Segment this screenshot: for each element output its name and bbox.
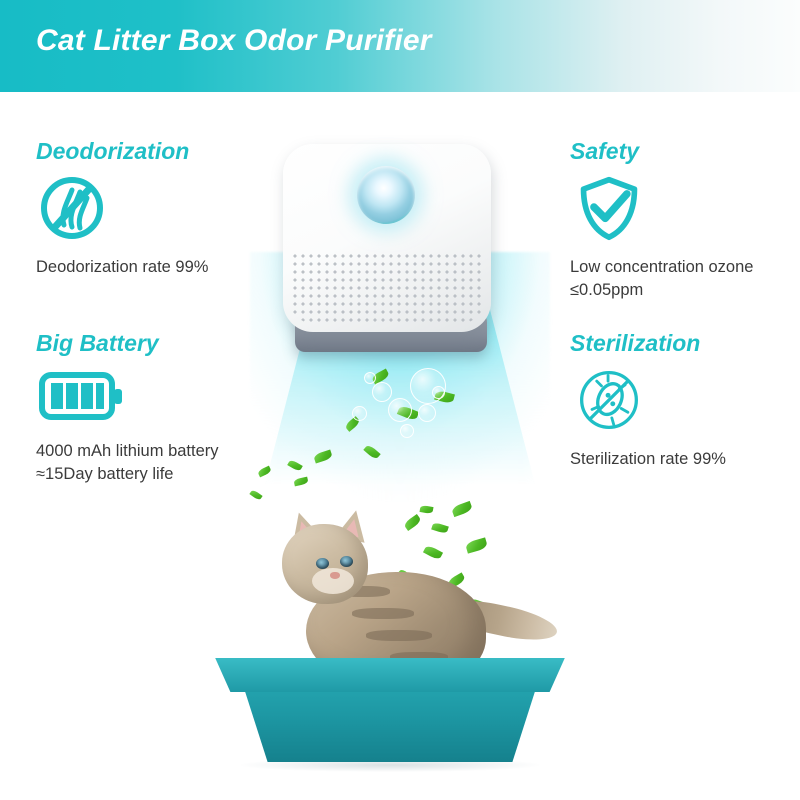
bubble-particle (388, 398, 412, 422)
battery-full-icon (38, 367, 126, 425)
litter-tray-rim (200, 658, 580, 692)
feature-title: Big Battery (36, 330, 286, 357)
feature-title: Safety (570, 138, 798, 165)
bubble-particle (372, 382, 392, 402)
shield-check-icon (572, 175, 646, 241)
device-body (283, 144, 491, 332)
feature-title: Sterilization (570, 330, 798, 357)
bubble-particle (400, 424, 414, 438)
cat-head (282, 524, 368, 604)
bubble-particle (352, 406, 367, 421)
feature-title: Deodorization (36, 138, 286, 165)
cat-eye-right (340, 556, 353, 567)
feature-safety: Safety Low concentration ozone ≤0.05ppm (570, 138, 798, 303)
cat-stripe (366, 630, 432, 641)
power-indicator-light[interactable] (357, 166, 415, 224)
odor-purifier-device (283, 144, 498, 356)
odor-block-icon (38, 175, 112, 241)
cat-nose (330, 572, 340, 579)
cat-stripe (352, 608, 414, 619)
germ-block-icon (572, 367, 646, 433)
product-infographic: Cat Litter Box Odor Purifier (0, 0, 800, 800)
feature-description: Low concentration ozone ≤0.05ppm (570, 256, 798, 303)
feature-description: Sterilization rate 99% (570, 448, 798, 471)
bubble-particle (418, 404, 436, 422)
feature-battery: Big Battery 4000 mAh lithium battery ≈15… (36, 330, 286, 487)
feature-sterilization: Sterilization Sterilization rate 99% (570, 330, 798, 471)
air-vent-grille (289, 250, 485, 324)
bubble-particle (432, 386, 445, 399)
feature-description: Deodorization rate 99% (36, 256, 286, 279)
bubble-particle (364, 372, 376, 384)
cat-eye-left (316, 558, 329, 569)
page-title: Cat Litter Box Odor Purifier (36, 24, 432, 58)
feature-deodorization: Deodorization Deodorization rate 99% (36, 138, 286, 279)
cat-litter-tray (200, 642, 600, 792)
feature-description: 4000 mAh lithium battery ≈15Day battery … (36, 440, 286, 487)
